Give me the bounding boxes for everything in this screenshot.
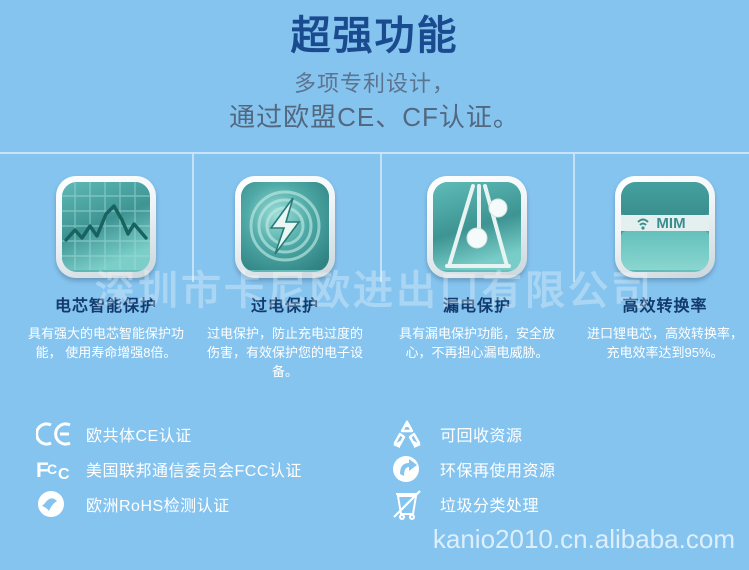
mim-icon-text: MIM	[656, 215, 685, 232]
feature-item-2: 过电保护 过电保护，防止充电过度的伤害，有效保护您的电子设备。	[191, 176, 379, 382]
feature-title-4: 高效转换率	[571, 292, 749, 316]
cert-label-reuse: 环保再使用资源	[440, 457, 556, 481]
feature-icon-1	[56, 176, 156, 278]
cert-row-ce: 欧共体CE认证	[36, 416, 302, 451]
page-title: 超强功能	[0, 14, 749, 58]
cert-label-rohs: 欧洲RoHS检测认证	[86, 492, 230, 516]
feature-desc-3: 具有漏电保护功能，安全放心，不再担心漏电威胁。	[383, 325, 571, 363]
feature-item-4: MIM 高效转换率 进口锂电芯，高效转换率，充电效率达到95%。	[571, 176, 749, 363]
waveform-graph-icon	[62, 182, 150, 272]
cert-label-fcc: 美国联邦通信委员会FCC认证	[86, 457, 302, 481]
feature-icon-2	[235, 176, 335, 278]
subtitle-line-1: 多项专利设计，	[0, 66, 749, 98]
certification-list-left: 欧共体CE认证 F C C 美国联邦通信委员会FCC认证 欧洲RoHS检测认证	[36, 416, 302, 521]
feature-item-3: 漏电保护 具有漏电保护功能，安全放心，不再担心漏电威胁。	[383, 176, 571, 363]
header-section: 超强功能 多项专利设计， 通过欧盟CE、CF认证。	[0, 0, 749, 152]
feature-title-2: 过电保护	[191, 292, 379, 316]
feature-icon-4: MIM	[615, 176, 715, 278]
url-watermark: kanio2010.cn.alibaba.com	[433, 524, 735, 555]
feature-title-3: 漏电保护	[383, 292, 571, 316]
mim-battery-cell-icon: MIM	[621, 182, 709, 272]
promo-banner: 超强功能 多项专利设计， 通过欧盟CE、CF认证。	[0, 0, 749, 570]
ce-mark-icon	[36, 418, 76, 450]
feature-icon-3	[427, 176, 527, 278]
cert-row-weee: 垃圾分类处理	[390, 486, 556, 521]
subtitle-line-2: 通过欧盟CE、CF认证。	[0, 97, 749, 134]
cert-row-fcc: F C C 美国联邦通信委员会FCC认证	[36, 451, 302, 486]
icon-frame	[235, 176, 335, 278]
rohs-mark-icon	[36, 488, 76, 520]
horizontal-divider	[0, 152, 749, 154]
weee-crossed-bin-icon	[390, 488, 430, 520]
cert-row-rohs: 欧洲RoHS检测认证	[36, 486, 302, 521]
feature-desc-1: 具有强大的电芯智能保护功能， 使用寿命增强8倍。	[12, 325, 200, 363]
svg-text:C: C	[47, 461, 57, 477]
cert-label-weee: 垃圾分类处理	[440, 492, 539, 516]
feature-title-1: 电芯智能保护	[12, 292, 200, 316]
fcc-mark-icon: F C C	[36, 453, 76, 485]
feature-item-1: 电芯智能保护 具有强大的电芯智能保护功能， 使用寿命增强8倍。	[12, 176, 200, 363]
feature-desc-2: 过电保护，防止充电过度的伤害，有效保护您的电子设备。	[191, 325, 379, 382]
icon-frame	[427, 176, 527, 278]
cert-label-ce: 欧共体CE认证	[86, 422, 192, 446]
cert-label-recycle: 可回收资源	[440, 422, 523, 446]
pendulum-balance-icon	[433, 182, 521, 272]
cert-row-reuse: 环保再使用资源	[390, 451, 556, 486]
certification-list-right: 可回收资源 环保再使用资源	[390, 416, 556, 521]
cert-row-recycle: 可回收资源	[390, 416, 556, 451]
feature-desc-4: 进口锂电芯，高效转换率，充电效率达到95%。	[571, 325, 749, 363]
icon-frame: MIM	[615, 176, 715, 278]
svg-text:C: C	[58, 466, 70, 483]
reuse-arrow-icon	[390, 453, 430, 485]
recycle-triangle-icon	[390, 418, 430, 450]
lightning-bolt-swirl-icon	[241, 182, 329, 272]
vertical-divider-2	[380, 154, 382, 282]
icon-frame	[56, 176, 156, 278]
